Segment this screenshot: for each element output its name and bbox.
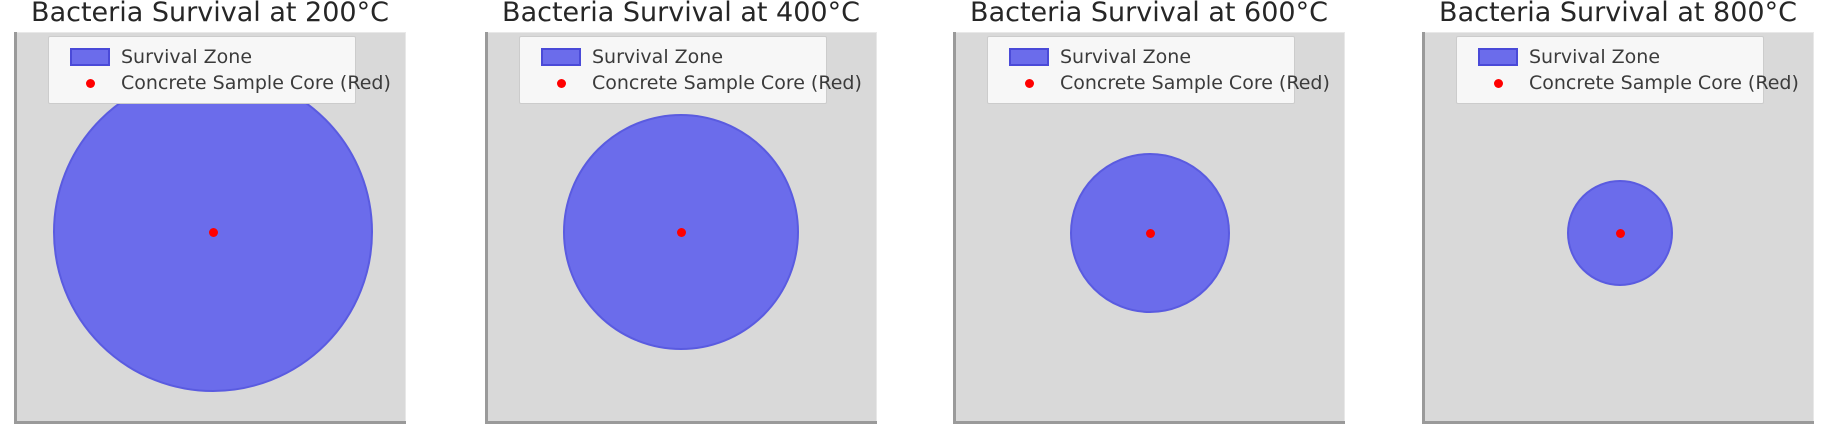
red-dot-icon: [1494, 79, 1503, 88]
axes-spine-right: [876, 32, 877, 424]
legend-label: Survival Zone: [1060, 46, 1191, 68]
legend: Survival Zone Concrete Sample Core (Red): [987, 36, 1295, 104]
axes-spine-bottom: [1422, 421, 1814, 424]
concrete-sample-core-dot: [1616, 229, 1625, 238]
panel-title: Bacteria Survival at 600°C: [953, 0, 1345, 29]
axes-spine-right: [1813, 32, 1814, 424]
plot-area: Survival Zone Concrete Sample Core (Red): [14, 32, 406, 424]
legend-label: Survival Zone: [1529, 46, 1660, 68]
red-dot-icon: [86, 79, 95, 88]
square-swatch-icon: [70, 48, 110, 66]
legend-label: Concrete Sample Core (Red): [1529, 72, 1799, 94]
legend-entry-survival-zone: Survival Zone: [530, 44, 814, 70]
legend-entry-core: Concrete Sample Core (Red): [530, 70, 814, 96]
axes-spine-top: [485, 32, 877, 33]
plot-area: Survival Zone Concrete Sample Core (Red): [485, 32, 877, 424]
legend-entry-survival-zone: Survival Zone: [1467, 44, 1751, 70]
legend-entry-core: Concrete Sample Core (Red): [1467, 70, 1751, 96]
square-swatch-icon: [541, 48, 581, 66]
red-dot-icon: [1025, 79, 1034, 88]
legend: Survival Zone Concrete Sample Core (Red): [1456, 36, 1764, 104]
legend-label: Concrete Sample Core (Red): [592, 72, 862, 94]
legend-marker: [59, 79, 121, 88]
panel-600c: Bacteria Survival at 600°C Survival Zone: [953, 0, 1345, 433]
axes-spine-bottom: [485, 421, 877, 424]
axes-spine-right: [405, 32, 406, 424]
axes-spine-top: [1422, 32, 1814, 33]
red-dot-icon: [557, 79, 566, 88]
square-swatch-icon: [1478, 48, 1518, 66]
axes-spine-left: [953, 32, 956, 424]
axes-spine-left: [485, 32, 488, 424]
legend-marker: [530, 79, 592, 88]
panel-200c: Bacteria Survival at 200°C Survival Zone: [14, 0, 406, 433]
legend-marker: [998, 79, 1060, 88]
axes-spine-bottom: [953, 421, 1345, 424]
axes-spine-top: [953, 32, 1345, 33]
legend-label: Concrete Sample Core (Red): [121, 72, 391, 94]
plot-area: Survival Zone Concrete Sample Core (Red): [953, 32, 1345, 424]
legend-marker: [998, 48, 1060, 66]
legend: Survival Zone Concrete Sample Core (Red): [519, 36, 827, 104]
concrete-sample-core-dot: [677, 228, 686, 237]
square-swatch-icon: [1009, 48, 1049, 66]
plot-area: Survival Zone Concrete Sample Core (Red): [1422, 32, 1814, 424]
axes-spine-left: [14, 32, 17, 424]
legend-entry-survival-zone: Survival Zone: [998, 44, 1282, 70]
legend-entry-survival-zone: Survival Zone: [59, 44, 343, 70]
legend-label: Survival Zone: [592, 46, 723, 68]
axes-spine-left: [1422, 32, 1425, 424]
axes-spine-bottom: [14, 421, 406, 424]
panel-400c: Bacteria Survival at 400°C Survival Zone: [485, 0, 877, 433]
legend-label: Survival Zone: [121, 46, 252, 68]
legend-marker: [1467, 48, 1529, 66]
legend-marker: [1467, 79, 1529, 88]
legend-entry-core: Concrete Sample Core (Red): [998, 70, 1282, 96]
legend-label: Concrete Sample Core (Red): [1060, 72, 1330, 94]
axes-spine-right: [1344, 32, 1345, 424]
axes-spine-top: [14, 32, 406, 33]
panel-title: Bacteria Survival at 200°C: [14, 0, 406, 29]
legend-marker: [530, 48, 592, 66]
panel-title: Bacteria Survival at 400°C: [485, 0, 877, 29]
legend-marker: [59, 48, 121, 66]
concrete-sample-core-dot: [1146, 229, 1155, 238]
panel-title: Bacteria Survival at 800°C: [1422, 0, 1814, 29]
concrete-sample-core-dot: [209, 228, 218, 237]
figure-canvas: Bacteria Survival at 200°C Survival Zone: [0, 0, 1833, 433]
legend: Survival Zone Concrete Sample Core (Red): [48, 36, 356, 104]
panel-800c: Bacteria Survival at 800°C Survival Zone: [1422, 0, 1814, 433]
legend-entry-core: Concrete Sample Core (Red): [59, 70, 343, 96]
